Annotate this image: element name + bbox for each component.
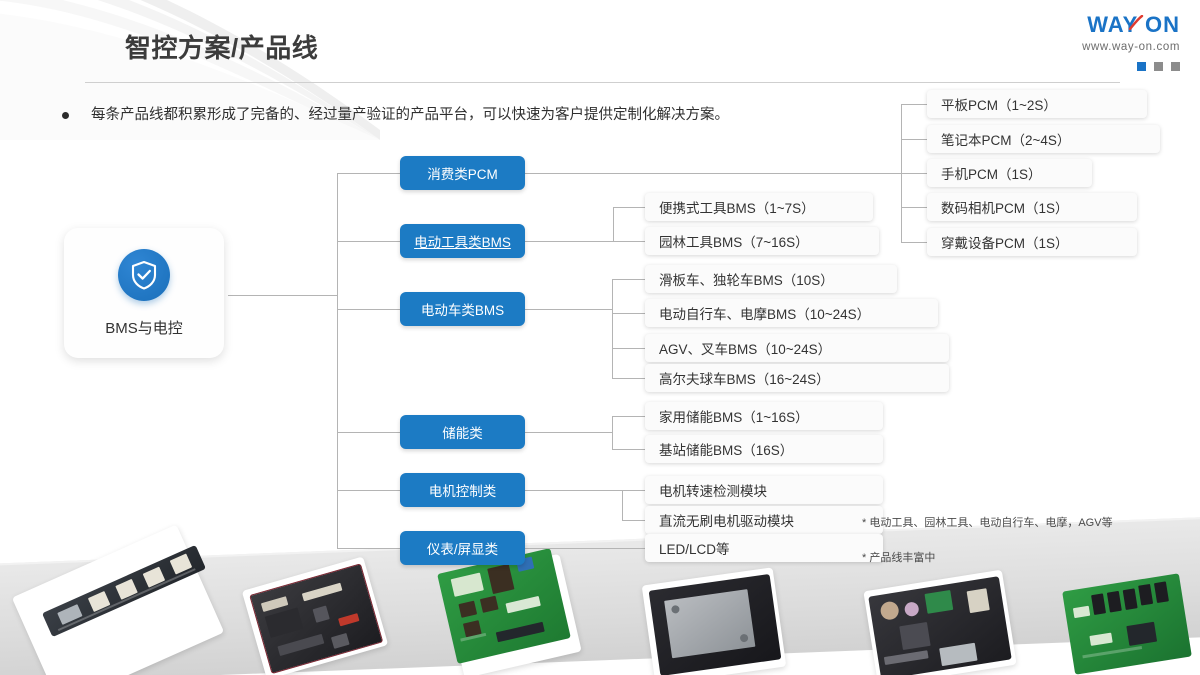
motor-leaf-2-line <box>622 520 645 521</box>
motor-leaf-spine <box>622 490 623 520</box>
category-storage[interactable]: 储能类 <box>400 415 525 449</box>
pcm-leaf-5-line <box>901 242 927 243</box>
ev-leaf-spine <box>612 279 613 378</box>
leaf-phone-pcm-label: 手机PCM（1S） <box>941 163 1042 183</box>
leaf-motor-speed-module[interactable]: 电机转速检测模块 <box>645 476 883 504</box>
leaf-motor-speed-module-label: 电机转速检测模块 <box>659 480 767 500</box>
leaf-phone-pcm[interactable]: 手机PCM（1S） <box>927 159 1092 187</box>
root-node-label: BMS与电控 <box>105 317 183 338</box>
ev-leaf-1-line <box>612 279 645 280</box>
ev-leaf-2-line <box>612 313 645 314</box>
consumer-to-pcm-spine <box>525 173 901 174</box>
leaf-golf-cart-bms[interactable]: 高尔夫球车BMS（16~24S） <box>645 364 949 392</box>
leaf-portable-tool-bms-label: 便携式工具BMS（1~7S） <box>659 197 815 217</box>
leaf-base-station-storage-bms-label: 基站储能BMS（16S） <box>659 439 793 459</box>
leaf-bldc-driver-module[interactable]: 直流无刷电机驱动模块 <box>645 506 883 534</box>
leaf-home-storage-bms[interactable]: 家用储能BMS（1~16S） <box>645 402 883 430</box>
pcm-leaf-3-line <box>901 173 927 174</box>
powertool-leaf-1-line <box>613 207 645 208</box>
leaf-led-lcd[interactable]: LED/LCD等 <box>645 534 883 562</box>
leaf-agv-forklift-bms[interactable]: AGV、叉车BMS（10~24S） <box>645 334 949 362</box>
footnote-2: * 产品线丰富中 <box>862 549 935 565</box>
leaf-tablet-pcm-label: 平板PCM（1~2S） <box>941 94 1057 114</box>
leaf-tablet-pcm[interactable]: 平板PCM（1~2S） <box>927 90 1147 118</box>
category-motor-control-label: 电机控制类 <box>429 480 497 500</box>
leaf-ebike-bms[interactable]: 电动自行车、电摩BMS（10~24S） <box>645 299 938 327</box>
ev-leaf-4-line <box>612 378 645 379</box>
branch-to-consumer <box>337 173 400 174</box>
branch-to-motor <box>337 490 400 491</box>
leaf-led-lcd-label: LED/LCD等 <box>659 538 730 558</box>
display-to-leaf <box>525 548 645 549</box>
category-consumer-pcm-label: 消费类PCM <box>427 163 498 183</box>
leaf-wearable-pcm[interactable]: 穿戴设备PCM（1S） <box>927 228 1137 256</box>
storage-to-spine <box>525 432 612 433</box>
branch-to-storage <box>337 432 400 433</box>
branch-to-power-tool <box>337 241 400 242</box>
motor-to-spine <box>525 490 622 491</box>
category-power-tool-bms[interactable]: 电动工具类BMS <box>400 224 525 258</box>
leaf-home-storage-bms-label: 家用储能BMS（1~16S） <box>659 406 809 426</box>
leaf-wearable-pcm-label: 穿戴设备PCM（1S） <box>941 232 1069 252</box>
pcm-leaf-1-line <box>901 104 927 105</box>
branch-to-display <box>337 548 400 549</box>
leaf-golf-cart-bms-label: 高尔夫球车BMS（16~24S） <box>659 368 830 388</box>
ev-leaf-3-line <box>612 348 645 349</box>
shield-check-icon <box>118 249 170 301</box>
branch-to-ev <box>337 309 400 310</box>
category-display[interactable]: 仪表/屏显类 <box>400 531 525 565</box>
ev-to-spine <box>525 309 612 310</box>
leaf-portable-tool-bms[interactable]: 便携式工具BMS（1~7S） <box>645 193 873 221</box>
footnote-1: * 电动工具、园林工具、电动自行车、电摩，AGV等 <box>862 514 1113 530</box>
leaf-ebike-bms-label: 电动自行车、电摩BMS（10~24S） <box>659 303 870 323</box>
leaf-garden-tool-bms[interactable]: 园林工具BMS（7~16S） <box>645 227 879 255</box>
root-node-bms[interactable]: BMS与电控 <box>64 228 224 358</box>
leaf-scooter-bms-label: 滑板车、独轮车BMS（10S） <box>659 269 834 289</box>
category-power-tool-bms-label: 电动工具类BMS <box>414 231 511 251</box>
storage-leaf-2-line <box>612 449 645 450</box>
leaf-camera-pcm-label: 数码相机PCM（1S） <box>941 197 1069 217</box>
leaf-notebook-pcm-label: 笔记本PCM（2~4S） <box>941 129 1070 149</box>
pcm-leaf-4-line <box>901 207 927 208</box>
powertool-leaf-2-line <box>613 241 645 242</box>
category-motor-control[interactable]: 电机控制类 <box>400 473 525 507</box>
leaf-notebook-pcm[interactable]: 笔记本PCM（2~4S） <box>927 125 1160 153</box>
leaf-garden-tool-bms-label: 园林工具BMS（7~16S） <box>659 231 809 251</box>
category-display-label: 仪表/屏显类 <box>427 538 498 558</box>
main-spine <box>337 173 338 549</box>
leaf-base-station-storage-bms[interactable]: 基站储能BMS（16S） <box>645 435 883 463</box>
powertool-to-spine <box>525 241 613 242</box>
storage-leaf-spine <box>612 416 613 449</box>
trunk-line <box>228 295 338 296</box>
powertool-leaf-spine <box>613 207 614 242</box>
motor-leaf-1-line <box>622 490 645 491</box>
category-ev-bms-label: 电动车类BMS <box>421 299 504 319</box>
pcm-leaf-2-line <box>901 139 927 140</box>
leaf-agv-forklift-bms-label: AGV、叉车BMS（10~24S） <box>659 338 831 358</box>
leaf-scooter-bms[interactable]: 滑板车、独轮车BMS（10S） <box>645 265 897 293</box>
category-consumer-pcm[interactable]: 消费类PCM <box>400 156 525 190</box>
storage-leaf-1-line <box>612 416 645 417</box>
leaf-bldc-driver-module-label: 直流无刷电机驱动模块 <box>659 510 794 530</box>
category-storage-label: 储能类 <box>442 422 483 442</box>
leaf-camera-pcm[interactable]: 数码相机PCM（1S） <box>927 193 1137 221</box>
category-ev-bms[interactable]: 电动车类BMS <box>400 292 525 326</box>
slide-canvas: 智控方案/产品线 WAY ON www.way-on.com 每条产品线都积累形… <box>0 0 1200 675</box>
